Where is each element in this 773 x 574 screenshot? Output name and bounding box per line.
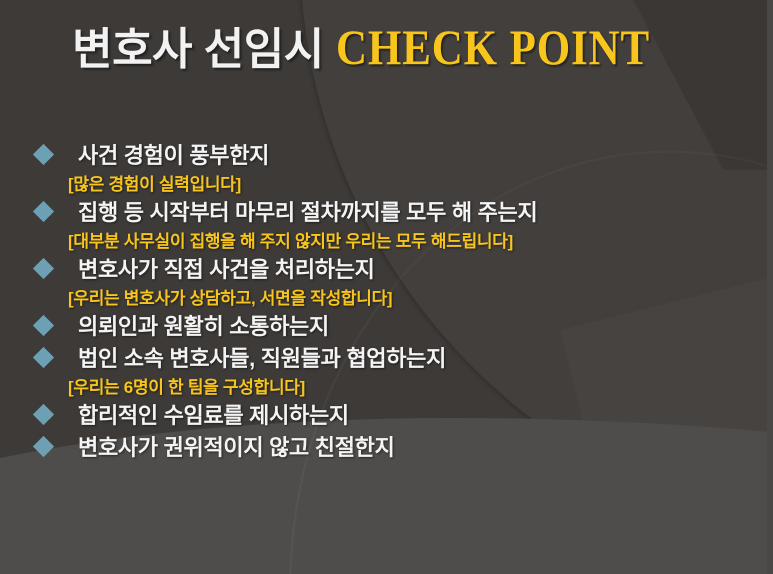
diamond-bullet-icon bbox=[33, 436, 54, 457]
checklist-item-text: 사건 경험이 풍부한지 bbox=[78, 140, 269, 171]
checklist-item-text: 집행 등 시작부터 마무리 절차까지를 모두 해 주는지 bbox=[78, 197, 537, 228]
list-item: 합리적인 수임료를 제시하는지 bbox=[0, 400, 773, 432]
checklist-item-text: 변호사가 직접 사건을 처리하는지 bbox=[78, 254, 375, 285]
checklist-item-text: 합리적인 수임료를 제시하는지 bbox=[78, 400, 349, 431]
list-item: 변호사가 권위적이지 않고 친절한지 bbox=[0, 432, 773, 464]
list-item: 의뢰인과 원활히 소통하는지 bbox=[0, 311, 773, 343]
list-item: 변호사가 직접 사건을 처리하는지 [우리는 변호사가 상담하고, 서면을 작성… bbox=[0, 254, 773, 311]
checklist-item-note: [우리는 6명이 한 팀을 구성합니다] bbox=[68, 375, 773, 400]
checklist-item-note: [우리는 변호사가 상담하고, 서면을 작성합니다] bbox=[68, 286, 773, 311]
checklist-item-note: [많은 경험이 실력입니다] bbox=[68, 172, 773, 197]
checklist-row: 법인 소속 변호사들, 직원들과 협업하는지 bbox=[78, 343, 773, 375]
slide-title: 변호사 선임시CHECK POINT bbox=[0, 22, 773, 72]
list-item: 법인 소속 변호사들, 직원들과 협업하는지 [우리는 6명이 한 팀을 구성합… bbox=[0, 343, 773, 400]
checklist: 사건 경험이 풍부한지 [많은 경험이 실력입니다] 집행 등 시작부터 마무리… bbox=[0, 140, 773, 464]
checklist-item-note: [대부분 사무실이 집행을 해 주지 않지만 우리는 모두 해드립니다] bbox=[68, 229, 773, 254]
checklist-row: 합리적인 수임료를 제시하는지 bbox=[78, 400, 773, 432]
checklist-row: 의뢰인과 원활히 소통하는지 bbox=[78, 311, 773, 343]
diamond-bullet-icon bbox=[33, 347, 54, 368]
checklist-row: 집행 등 시작부터 마무리 절차까지를 모두 해 주는지 bbox=[78, 197, 773, 229]
diamond-bullet-icon bbox=[33, 315, 54, 336]
checklist-row: 사건 경험이 풍부한지 bbox=[78, 140, 773, 172]
checklist-row: 변호사가 권위적이지 않고 친절한지 bbox=[78, 432, 773, 464]
diamond-bullet-icon bbox=[33, 201, 54, 222]
checklist-item-text: 의뢰인과 원활히 소통하는지 bbox=[78, 311, 329, 342]
slide-title-english: CHECK POINT bbox=[336, 22, 650, 72]
checklist-item-text: 변호사가 권위적이지 않고 친절한지 bbox=[78, 432, 395, 463]
diamond-bullet-icon bbox=[33, 144, 54, 165]
diamond-bullet-icon bbox=[33, 404, 54, 425]
diamond-bullet-icon bbox=[33, 258, 54, 279]
list-item: 사건 경험이 풍부한지 [많은 경험이 실력입니다] bbox=[0, 140, 773, 197]
list-item: 집행 등 시작부터 마무리 절차까지를 모두 해 주는지 [대부분 사무실이 집… bbox=[0, 197, 773, 254]
slide-title-korean: 변호사 선임시 bbox=[72, 25, 324, 74]
checklist-row: 변호사가 직접 사건을 처리하는지 bbox=[78, 254, 773, 286]
presentation-slide: 변호사 선임시CHECK POINT 사건 경험이 풍부한지 [많은 경험이 실… bbox=[0, 0, 773, 574]
checklist-item-text: 법인 소속 변호사들, 직원들과 협업하는지 bbox=[78, 343, 446, 374]
